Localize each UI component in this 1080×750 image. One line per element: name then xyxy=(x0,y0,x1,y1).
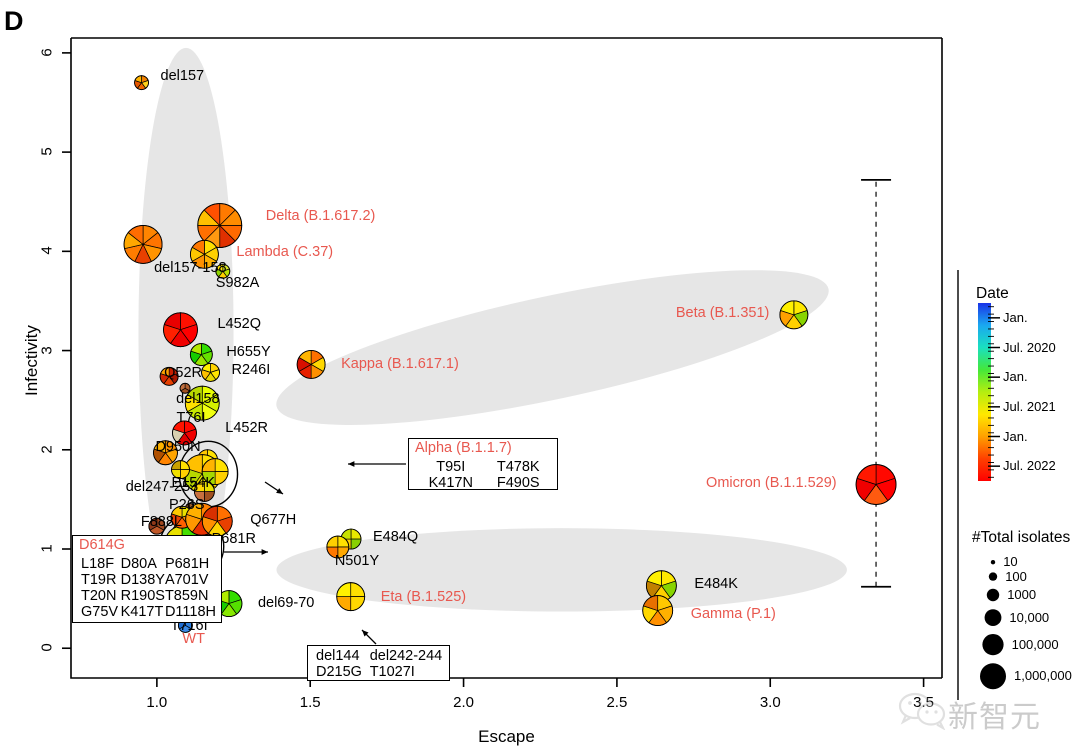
y-tick-label: 5 xyxy=(39,140,56,164)
pie-marker-Beta--B-1-351- xyxy=(780,301,808,329)
point-label: del247-253 xyxy=(126,480,199,495)
d614g-box-leader xyxy=(224,549,268,555)
mutation-label: F490S xyxy=(485,475,553,491)
date-legend-tick: Jan. xyxy=(1003,429,1028,444)
point-label: Omicron (B.1.1.529) xyxy=(706,476,837,491)
figure-panel: D 01234561.01.52.02.53.03.5EscapeInfecti… xyxy=(0,0,1080,750)
point-label: Delta (B.1.617.2) xyxy=(266,209,376,224)
y-axis-title: Infectivity xyxy=(22,325,42,396)
del247-253-leader xyxy=(265,482,283,494)
mutation-label: T859N xyxy=(165,588,216,604)
pie-marker-Eta--B-1-525- xyxy=(337,583,365,611)
wechat-watermark-icon xyxy=(898,690,950,730)
d614g-mutation-list: L18FD80AP681HT19RD138YA701VT20NR190ST859… xyxy=(73,556,221,623)
mutation-label: T1027I xyxy=(370,664,444,680)
d614g-mutation-box: D614G L18FD80AP681HT19RD138YA701VT20NR19… xyxy=(72,535,222,623)
alpha-mutation-list: T95IT478KK417NF490S xyxy=(409,459,557,493)
cluster-ellipse-upper-right xyxy=(266,238,839,456)
date-legend-tick: Jul. 2020 xyxy=(1003,340,1056,355)
del144-box-leader xyxy=(362,630,376,644)
pie-marker-Omicron--B-1-1-529- xyxy=(856,465,896,505)
size-legend-circle xyxy=(985,609,1002,626)
point-label: Beta (B.1.351) xyxy=(676,306,770,321)
pie-marker-Kappa--B-1-617-1- xyxy=(297,350,325,378)
mutation-label: T19R xyxy=(81,572,121,588)
point-label: WT xyxy=(182,632,205,647)
x-tick-label: 1.5 xyxy=(288,694,332,711)
date-legend-tick: Jul. 2021 xyxy=(1003,399,1056,414)
point-label: S982A xyxy=(216,276,260,291)
point-label: E484K xyxy=(694,577,738,592)
mutation-label: del144 xyxy=(316,648,364,664)
date-legend-tick: Jan. xyxy=(1003,310,1028,325)
size-legend-label: 10 xyxy=(1003,554,1017,569)
point-label: L452Q xyxy=(217,317,261,332)
mutation-label: T20N xyxy=(81,588,121,604)
size-legend-label: 1000 xyxy=(1007,587,1036,602)
mutation-label: K417T xyxy=(121,604,165,620)
point-label: del69-70 xyxy=(258,596,314,611)
point-label: R246I xyxy=(232,363,271,378)
point-label: del158 xyxy=(176,392,220,407)
omicron-error-bar xyxy=(861,180,891,587)
date-legend-title: Date xyxy=(976,285,1009,303)
x-tick-label: 1.0 xyxy=(135,694,179,711)
alpha-box-title: Alpha (B.1.1.7) xyxy=(409,439,557,459)
size-legend-label: 100,000 xyxy=(1012,637,1059,652)
mutation-label: R190S xyxy=(121,588,165,604)
watermark-text: 新智元 xyxy=(948,692,1041,736)
point-label: F888L xyxy=(141,515,182,530)
del144-mutation-list: del144del242-244D215GT1027I xyxy=(308,646,449,682)
mutation-label: A701V xyxy=(165,572,216,588)
y-tick-label: 2 xyxy=(39,437,56,461)
point-label: H655Y xyxy=(226,345,270,360)
mutation-label: del242-244 xyxy=(370,648,444,664)
y-tick-label: 6 xyxy=(39,40,56,64)
date-legend-tick: Jul. 2022 xyxy=(1003,458,1056,473)
date-colorbar xyxy=(978,303,991,481)
x-axis-title: Escape xyxy=(0,727,1013,747)
x-tick-label: 2.0 xyxy=(442,694,486,711)
size-legend-circle xyxy=(982,634,1003,655)
point-label: del157-158 xyxy=(154,261,227,276)
size-legend-title: #Total isolates xyxy=(972,529,1070,547)
point-label: Kappa (B.1.617.1) xyxy=(341,357,459,372)
y-tick-label: 4 xyxy=(39,239,56,263)
size-legend-label: 100 xyxy=(1005,569,1027,584)
point-label: del157 xyxy=(161,69,205,84)
mutation-label: T478K xyxy=(485,459,553,475)
point-label: E484Q xyxy=(373,530,418,545)
point-label: N501Y xyxy=(335,554,379,569)
mutation-label: D138Y xyxy=(121,572,165,588)
point-label: Q52R xyxy=(164,366,202,381)
point-label: Q677H xyxy=(250,513,296,528)
mutation-label: L18F xyxy=(81,556,121,572)
size-legend-label: 1,000,000 xyxy=(1014,668,1072,683)
size-legend-label: 10,000 xyxy=(1009,610,1049,625)
mutation-label: D215G xyxy=(316,664,364,680)
pie-marker-H655Y xyxy=(190,344,212,366)
point-label: Gamma (P.1) xyxy=(691,607,776,622)
x-tick-label: 2.5 xyxy=(595,694,639,711)
mutation-label: K417N xyxy=(417,475,485,491)
point-label: P26S xyxy=(169,498,204,513)
point-label: D950N xyxy=(155,440,200,455)
x-tick-label: 3.0 xyxy=(748,694,792,711)
pie-marker-Gamma--P-1- xyxy=(643,596,673,626)
size-legend-circle xyxy=(989,572,997,580)
y-tick-label: 0 xyxy=(39,636,56,660)
pie-marker-del157 xyxy=(135,76,149,90)
mutation-label: D80A xyxy=(121,556,165,572)
alpha-mutation-box: Alpha (B.1.1.7) T95IT478KK417NF490S xyxy=(408,438,558,490)
size-legend-circle xyxy=(980,663,1006,689)
point-label: T76I xyxy=(176,411,205,426)
alpha-box-leader xyxy=(348,461,406,467)
pie-marker-del157-158 xyxy=(124,225,162,263)
mutation-label: P681H xyxy=(165,556,216,572)
mutation-label: D1118H xyxy=(165,604,216,620)
size-legend-circle xyxy=(987,589,999,601)
point-label: Lambda (C.37) xyxy=(236,245,333,260)
del144-mutation-box: del144del242-244D215GT1027I xyxy=(307,645,450,681)
date-legend-tick: Jan. xyxy=(1003,369,1028,384)
y-tick-label: 1 xyxy=(39,537,56,561)
point-label: L452R xyxy=(225,421,268,436)
point-label: Eta (B.1.525) xyxy=(381,590,466,605)
mutation-label: T95I xyxy=(417,459,485,475)
pie-marker-L452Q xyxy=(163,313,197,347)
scatter-plot-svg xyxy=(0,0,1080,750)
d614g-box-title: D614G xyxy=(73,536,221,556)
mutation-label: G75V xyxy=(81,604,121,620)
size-legend-circle xyxy=(991,560,995,564)
pie-marker-R246I xyxy=(202,363,220,381)
